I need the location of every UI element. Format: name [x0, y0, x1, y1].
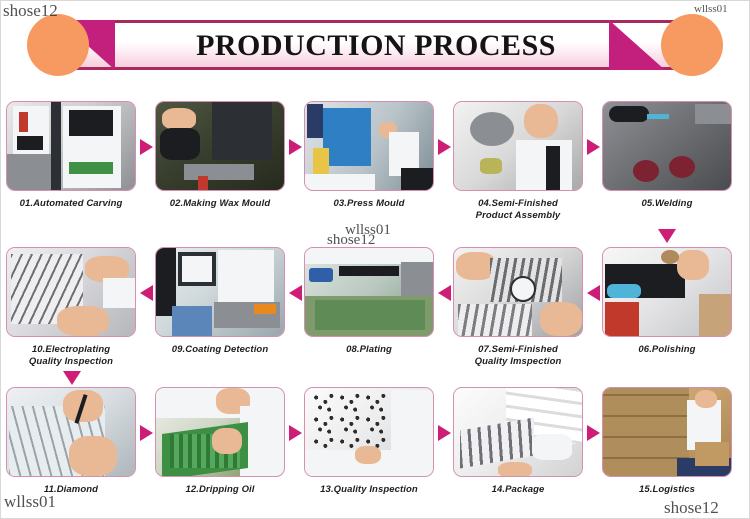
arrow-left-icon: [140, 285, 156, 301]
step-card-10[interactable]: 10.ElectroplatingQuality Inspection: [6, 247, 136, 368]
header-banner: PRODUCTION PROCESS: [1, 9, 750, 81]
step-image-03: [304, 101, 434, 191]
step-label-07: 07.Semi-FinishedQuality Imspection: [453, 344, 583, 368]
process-row-1: 01.Automated Carving 02.Making Wax Mould: [1, 101, 750, 241]
step-image-15: [602, 387, 732, 477]
arrow-left-icon: [438, 285, 454, 301]
step-label-12: 12.Dripping Oil: [155, 484, 285, 496]
arrow-right-icon: [438, 425, 454, 441]
step-image-06: [602, 247, 732, 337]
process-row-3: 11.Diamond 12.Dripping Oil: [1, 387, 750, 519]
step-image-07: [453, 247, 583, 337]
step-image-05: [602, 101, 732, 191]
step-image-12: [155, 387, 285, 477]
step-label-15: 15.Logistics: [602, 484, 732, 496]
step-label-01: 01.Automated Carving: [6, 198, 136, 210]
arrow-right-icon: [587, 139, 603, 155]
arrow-right-icon: [438, 139, 454, 155]
step-label-08: 08.Plating: [304, 344, 434, 356]
step-image-01: [6, 101, 136, 191]
step-card-03[interactable]: 03.Press Mould: [304, 101, 434, 210]
step-image-10: [6, 247, 136, 337]
step-card-07[interactable]: 07.Semi-FinishedQuality Imspection: [453, 247, 583, 368]
process-row-2: 10.ElectroplatingQuality Inspection 09.C…: [1, 247, 750, 387]
step-card-15[interactable]: 15.Logistics: [602, 387, 732, 496]
step-card-05[interactable]: 05.Welding: [602, 101, 732, 210]
step-label-11: 11.Diamond: [6, 484, 136, 496]
step-card-11[interactable]: 11.Diamond: [6, 387, 136, 496]
arrow-right-icon: [140, 425, 156, 441]
step-card-14[interactable]: 14.Package: [453, 387, 583, 496]
step-card-02[interactable]: 02.Making Wax Mould: [155, 101, 285, 210]
step-label-05: 05.Welding: [602, 198, 732, 210]
step-label-10: 10.ElectroplatingQuality Inspection: [6, 344, 136, 368]
arrow-right-icon: [289, 139, 305, 155]
step-label-04: 04.Semi-FinishedProduct Assembly: [453, 198, 583, 222]
infographic-root: PRODUCTION PROCESS 01.Automated Carving: [0, 0, 750, 519]
step-card-01[interactable]: 01.Automated Carving: [6, 101, 136, 210]
arrow-right-icon: [140, 139, 156, 155]
arrow-right-icon: [289, 425, 305, 441]
step-label-02: 02.Making Wax Mould: [155, 198, 285, 210]
step-image-13: [304, 387, 434, 477]
step-card-09[interactable]: 09.Coating Detection: [155, 247, 285, 356]
step-card-06[interactable]: 06.Polishing: [602, 247, 732, 356]
step-label-13: 13.Quality Inspection: [304, 484, 434, 496]
step-label-03: 03.Press Mould: [304, 198, 434, 210]
arrow-left-icon: [289, 285, 305, 301]
step-image-14: [453, 387, 583, 477]
step-image-11: [6, 387, 136, 477]
arrow-right-icon: [587, 425, 603, 441]
step-image-04: [453, 101, 583, 191]
arrow-down-icon: [658, 229, 676, 245]
step-label-14: 14.Package: [453, 484, 583, 496]
step-image-08: [304, 247, 434, 337]
step-label-09: 09.Coating Detection: [155, 344, 285, 356]
arrow-down-icon: [63, 371, 81, 387]
arrow-left-icon: [587, 285, 603, 301]
step-card-04[interactable]: 04.Semi-FinishedProduct Assembly: [453, 101, 583, 222]
step-label-06: 06.Polishing: [602, 344, 732, 356]
step-card-12[interactable]: 12.Dripping Oil: [155, 387, 285, 496]
step-image-02: [155, 101, 285, 191]
step-card-08[interactable]: 08.Plating: [304, 247, 434, 356]
step-card-13[interactable]: 13.Quality Inspection: [304, 387, 434, 496]
step-image-09: [155, 247, 285, 337]
page-title: PRODUCTION PROCESS: [1, 29, 750, 63]
